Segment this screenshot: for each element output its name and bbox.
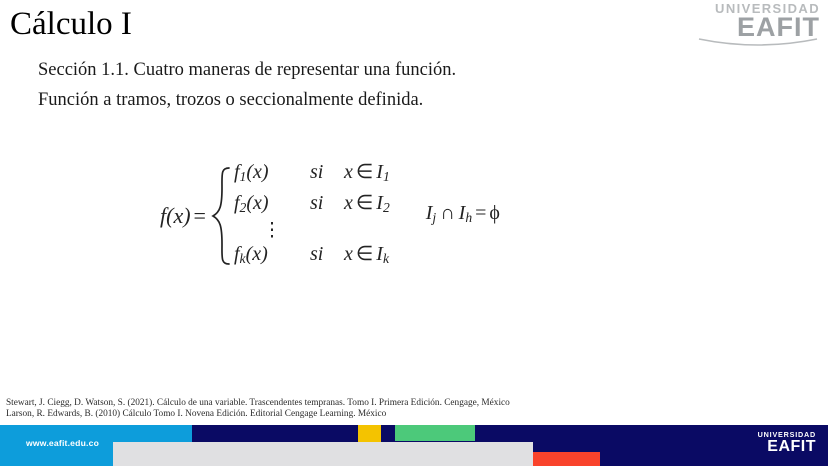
case-membership: x∈I1 — [344, 159, 390, 190]
footer-website-url[interactable]: www.eafit.edu.co — [26, 438, 99, 448]
case-function: f1(x) — [234, 159, 310, 190]
case-keyword-si: si — [310, 241, 344, 268]
formula-cases-list: f1(x) si x∈I1 f2(x) si x∈I2 ⋮ fk(x) si x… — [234, 159, 390, 272]
footer-logo-eafit-text: EAFIT — [730, 438, 816, 456]
formula-case-row: f1(x) si x∈I1 — [234, 159, 390, 190]
page-title: Cálculo I — [10, 4, 132, 44]
footer-red-block — [533, 452, 600, 466]
case-keyword-si: si — [310, 159, 344, 186]
formula-equals-sign: = — [191, 203, 206, 228]
piecewise-function-formula: f(x)= f1(x) si x∈I1 f2(x) si x∈I2 ⋮ fk(x… — [160, 163, 500, 268]
left-curly-brace-icon — [210, 166, 232, 266]
reference-line: Larson, R. Edwards, B. (2010) Cálculo To… — [6, 409, 510, 420]
footer-green-block — [395, 425, 475, 441]
references-block: Stewart, J. Ciegg, D. Watson, S. (2021).… — [6, 398, 510, 421]
logo-arc-icon — [698, 38, 818, 50]
formula-case-row: f2(x) si x∈I2 — [234, 190, 390, 221]
disjointness-condition: Ij∩Ih=ϕ — [426, 202, 500, 230]
reference-line: Stewart, J. Ciegg, D. Watson, S. (2021).… — [6, 398, 510, 409]
intersection-icon: ∩ — [436, 202, 458, 224]
case-keyword-si: si — [310, 190, 344, 217]
case-function: f2(x) — [234, 190, 310, 221]
section-subheading-line: Función a tramos, trozos o seccionalment… — [38, 90, 423, 111]
presentation-slide: Cálculo I UNIVERSIDAD EAFIT Sección 1.1.… — [0, 0, 828, 466]
formula-left-hand-side: f(x)= — [160, 203, 210, 229]
slide-footer: www.eafit.edu.co UNIVERSIDAD EAFIT — [0, 425, 828, 466]
footer-gray-panel — [113, 442, 533, 466]
vertical-ellipsis-icon: ⋮ — [234, 221, 310, 241]
eafit-logo-header: UNIVERSIDAD EAFIT — [694, 2, 820, 50]
case-function: fk(x) — [234, 241, 310, 272]
formula-case-row: fk(x) si x∈Ik — [234, 241, 390, 272]
case-membership: x∈I2 — [344, 190, 390, 221]
section-heading-line: Sección 1.1. Cuatro maneras de represent… — [38, 60, 456, 81]
eafit-logo-footer: UNIVERSIDAD EAFIT — [730, 431, 816, 461]
case-membership: x∈Ik — [344, 241, 389, 272]
formula-fx: f(x) — [160, 203, 191, 228]
